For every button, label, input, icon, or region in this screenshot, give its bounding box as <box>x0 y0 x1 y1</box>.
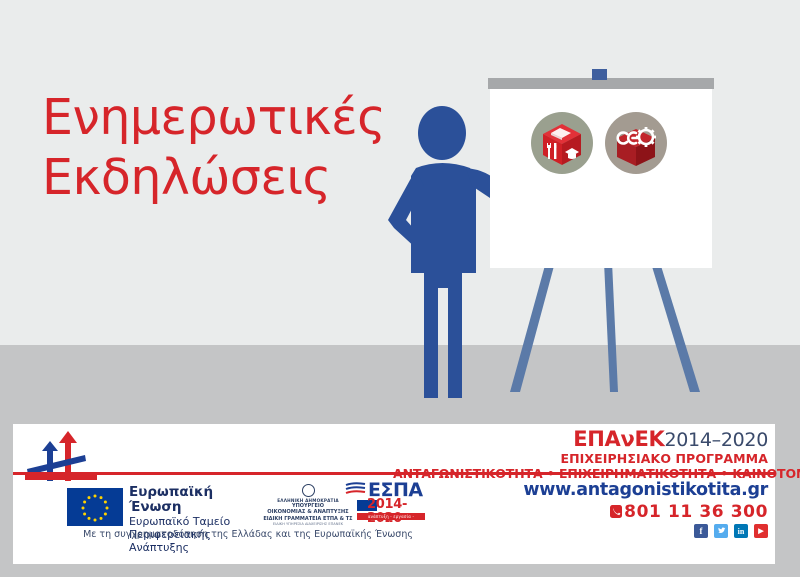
phone-number[interactable]: 801 11 36 300 <box>443 502 768 523</box>
youtube-icon[interactable]: ▶ <box>754 524 768 538</box>
banner-divider <box>13 472 775 475</box>
linkedin-icon[interactable]: in <box>734 524 748 538</box>
poster-canvas: Ενημερωτικές Εκδηλώσεις <box>0 0 800 577</box>
social-links: f in ▶ <box>613 524 768 538</box>
european-union-flag <box>67 488 123 526</box>
ce-mark-gear-box-icon <box>605 112 667 174</box>
cofinancing-statement: Με τη συγχρηματοδότηση της Ελλάδας και τ… <box>13 529 483 540</box>
whiteboard-surface <box>490 88 712 268</box>
phone-icon <box>610 503 622 523</box>
epanek-subtitle: ΕΠΙΧΕΙΡΗΣΙΑΚΟ ΠΡΟΓΡΑΜΜΑ <box>393 451 768 466</box>
whiteboard-hanger-tab <box>592 69 607 80</box>
page-title: Ενημερωτικές Εκδηλώσεις <box>42 88 402 208</box>
eu-line-2: Ευρωπαϊκό Ταμείο <box>129 515 267 528</box>
presentation-easel <box>478 60 740 405</box>
epanek-years: 2014–2020 <box>664 429 768 451</box>
phone-number-text: 801 11 36 300 <box>624 502 768 522</box>
eu-logo-text: Ευρωπαϊκή Ένωση Ευρωπαϊκό Ταμείο Περιφερ… <box>129 485 267 554</box>
website-url[interactable]: www.antagonistikotita.gr <box>443 480 768 500</box>
espa-tagline: ανάπτυξη - εργασία - αλληλεγγύη <box>357 513 425 520</box>
espa-logo: ΕΣΠΑ 2014-2020 ανάπτυξη - εργασία - αλλη… <box>345 482 425 526</box>
epanek-name: ΕΠΑνΕΚ <box>573 427 664 451</box>
espa-funding-banner: ΕΠΑνΕΚ2014–2020 ΕΠΙΧΕΙΡΗΣΙΑΚΟ ΠΡΟΓΡΑΜΜΑ … <box>13 424 775 564</box>
eu-logo-block: Ευρωπαϊκή Ένωση Ευρωπαϊκό Ταμείο Περιφερ… <box>67 486 267 528</box>
facebook-icon[interactable]: f <box>694 524 708 538</box>
tourism-education-box-icon <box>531 112 593 174</box>
twitter-icon[interactable] <box>714 524 728 538</box>
hellenic-republic-emblem <box>302 484 315 497</box>
eu-line-1: Ευρωπαϊκή Ένωση <box>129 485 267 515</box>
